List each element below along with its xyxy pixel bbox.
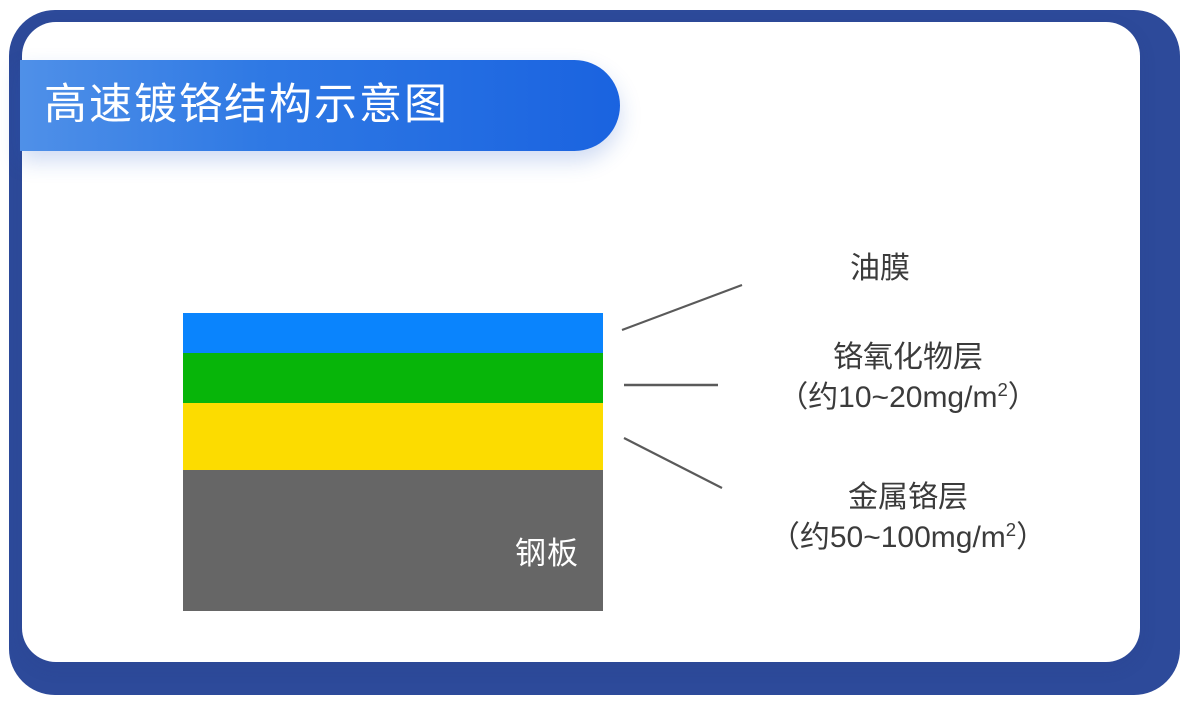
layer-stack: 钢板	[183, 313, 603, 611]
annotation-oil-film-title: 油膜	[760, 249, 1000, 289]
steel-plate-label: 钢板	[515, 538, 579, 569]
annotation-chrome-oxide-amount-sup: 2	[997, 379, 1007, 400]
annotation-chrome-oxide: 铬氧化物层 （约10~20mg/m2）	[738, 338, 1078, 418]
layer-oil-film	[183, 313, 603, 353]
title-badge: 高速镀铬结构示意图	[20, 60, 620, 151]
layer-chrome-oxide	[183, 353, 603, 403]
annotation-metallic-chrome: 金属铬层 （约50~100mg/m2）	[738, 478, 1078, 558]
layer-metallic-chrome	[183, 403, 603, 470]
diagram-canvas: 高速镀铬结构示意图 钢板 油膜 铬氧化物层 （约10~20mg/m2） 金属铬层…	[0, 0, 1189, 709]
page-title: 高速镀铬结构示意图	[44, 84, 449, 127]
annotation-chrome-oxide-amount-pre: （约10~20mg/m	[778, 381, 997, 414]
annotation-metallic-chrome-amount-post: ）	[1016, 521, 1046, 554]
annotation-metallic-chrome-amount: （约50~100mg/m2）	[738, 518, 1078, 558]
annotation-chrome-oxide-title: 铬氧化物层	[738, 338, 1078, 378]
annotation-metallic-chrome-amount-pre: （约50~100mg/m	[770, 521, 1006, 554]
annotation-oil-film: 油膜	[760, 249, 1000, 289]
annotation-metallic-chrome-amount-sup: 2	[1006, 519, 1016, 540]
annotation-metallic-chrome-title: 金属铬层	[738, 478, 1078, 518]
layer-steel-plate: 钢板	[183, 470, 603, 611]
annotation-chrome-oxide-amount: （约10~20mg/m2）	[738, 378, 1078, 418]
annotation-chrome-oxide-amount-post: ）	[1008, 381, 1038, 414]
